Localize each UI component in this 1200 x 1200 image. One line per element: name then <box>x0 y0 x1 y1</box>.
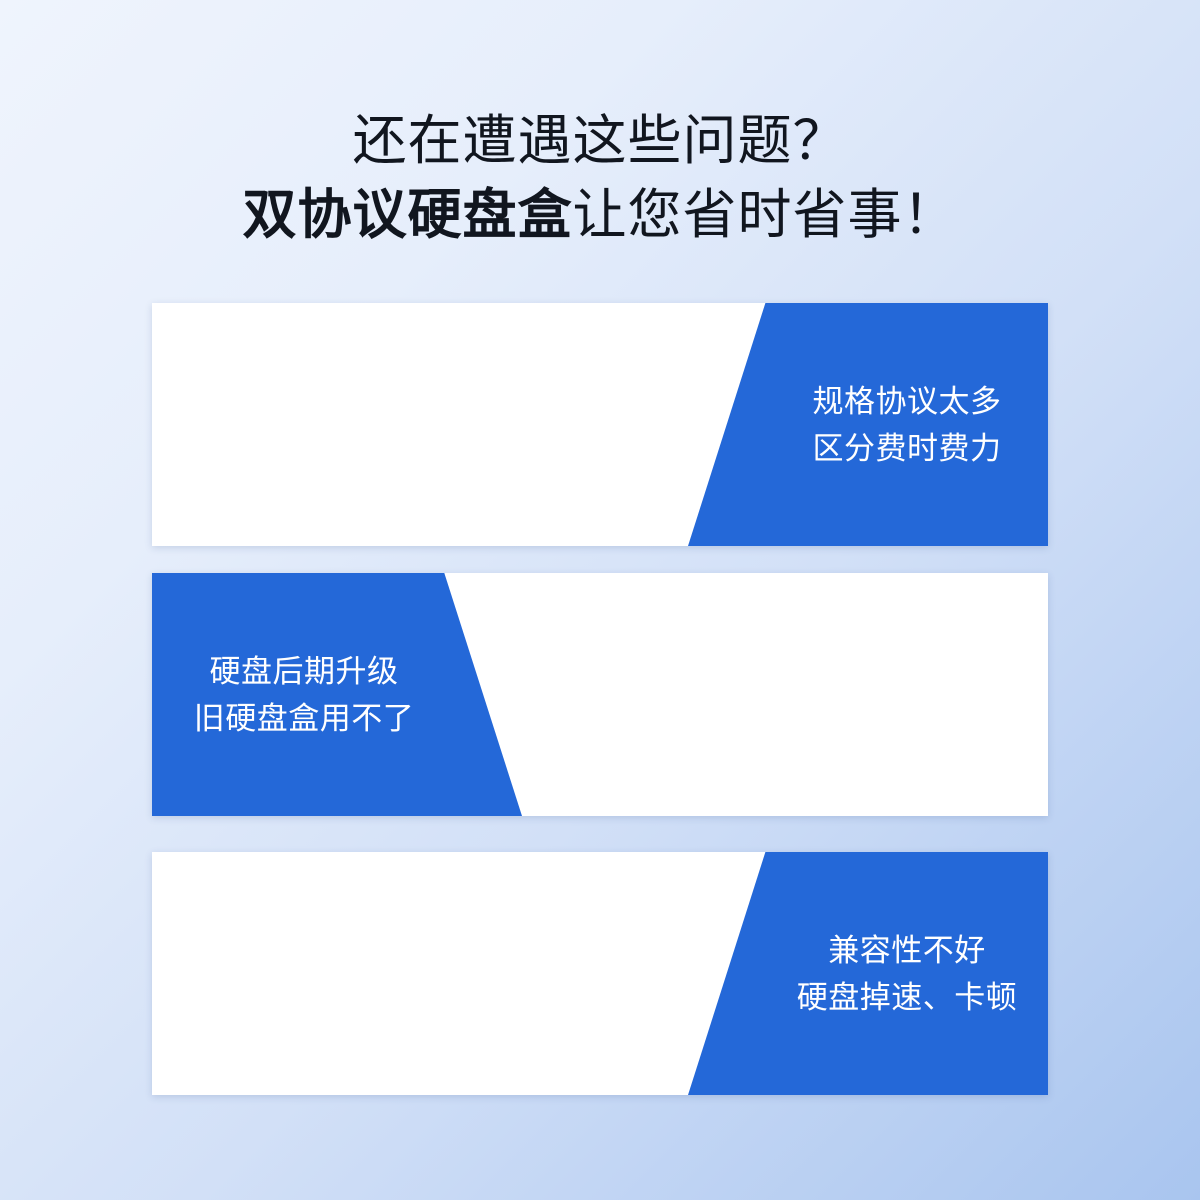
panel-1-caption-line-1: 规格协议太多 <box>766 378 1048 425</box>
panel-2-caption: 硬盘后期升级 旧硬盘盒用不了 <box>152 648 522 742</box>
panel-2-caption-line-1: 硬盘后期升级 <box>152 648 456 695</box>
headline-line-1: 还在遭遇这些问题？ <box>0 108 1200 174</box>
headline-emphasis: 双协议硬盘盒 <box>243 185 573 245</box>
headline-rest: 让您省时省事！ <box>573 185 958 245</box>
panel-3-caption-line-1: 兼容性不好 <box>766 927 1048 974</box>
panel-3-caption: 兼容性不好 硬盘掉速、卡顿 <box>688 927 1048 1021</box>
panel-3-caption-line-2: 硬盘掉速、卡顿 <box>766 974 1048 1021</box>
problem-panel-3: 已完成 10% ❚❚ ✕ 速度: 25.7 MB/秒 名称: 绿皮书.1080p… <box>152 852 1048 1095</box>
problem-panel-2: ‹ 磁盘 1 基本 931.51 GB 联机 磁盘 2 <box>152 573 1048 816</box>
panel-1-caption-line-2: 区分费时费力 <box>766 425 1048 472</box>
headline-line-2: 双协议硬盘盒让您省时省事！ <box>0 180 1200 250</box>
page-headline: 还在遭遇这些问题？ 双协议硬盘盒让您省时省事！ <box>0 108 1200 250</box>
panel-3-caption-wedge: 兼容性不好 硬盘掉速、卡顿 <box>688 852 1048 1095</box>
panel-2-caption-wedge: 硬盘后期升级 旧硬盘盒用不了 <box>152 573 522 816</box>
panel-1-caption: 规格协议太多 区分费时费力 <box>688 378 1048 472</box>
panel-2-caption-line-2: 旧硬盘盒用不了 <box>152 695 456 742</box>
panel-1-caption-wedge: 规格协议太多 区分费时费力 <box>688 303 1048 546</box>
problem-panel-1: V-NAND SSD 970 EVO NVMe M.2 SAMSUNG ELEC… <box>152 303 1048 546</box>
